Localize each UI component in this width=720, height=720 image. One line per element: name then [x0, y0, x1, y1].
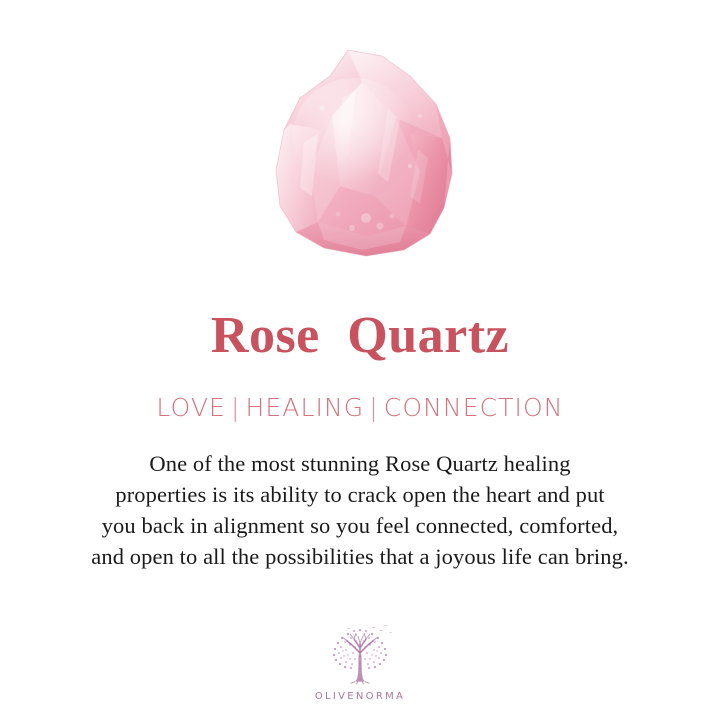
keyword-separator-2: |	[364, 393, 384, 422]
brand-logo: OLIVENORMA	[0, 623, 720, 702]
keyword-healing: HEALING	[245, 393, 364, 422]
description-line: and open to all the possibilities that a…	[28, 541, 692, 572]
tree-of-life-icon	[322, 623, 398, 689]
description-line: properties is its ability to crack open …	[28, 479, 692, 510]
description-line: One of the most stunning Rose Quartz hea…	[28, 448, 692, 479]
crystal-illustration	[270, 46, 460, 261]
keyword-line: LOVE|HEALING|CONNECTION	[156, 362, 563, 420]
description-paragraph: One of the most stunning Rose Quartz hea…	[28, 420, 692, 572]
keyword-separator-1: |	[226, 393, 246, 422]
description-line: you back in alignment so you feel connec…	[28, 510, 692, 541]
keyword-connection: CONNECTION	[384, 393, 564, 422]
hero-section	[0, 0, 720, 285]
product-info-card: Rose Quartz LOVE|HEALING|CONNECTION One …	[0, 0, 720, 720]
keyword-love: LOVE	[156, 393, 226, 422]
brand-wordmark: OLIVENORMA	[315, 691, 405, 702]
rose-quartz-crystal-image	[270, 46, 460, 261]
page-title: Rose Quartz	[211, 285, 509, 362]
